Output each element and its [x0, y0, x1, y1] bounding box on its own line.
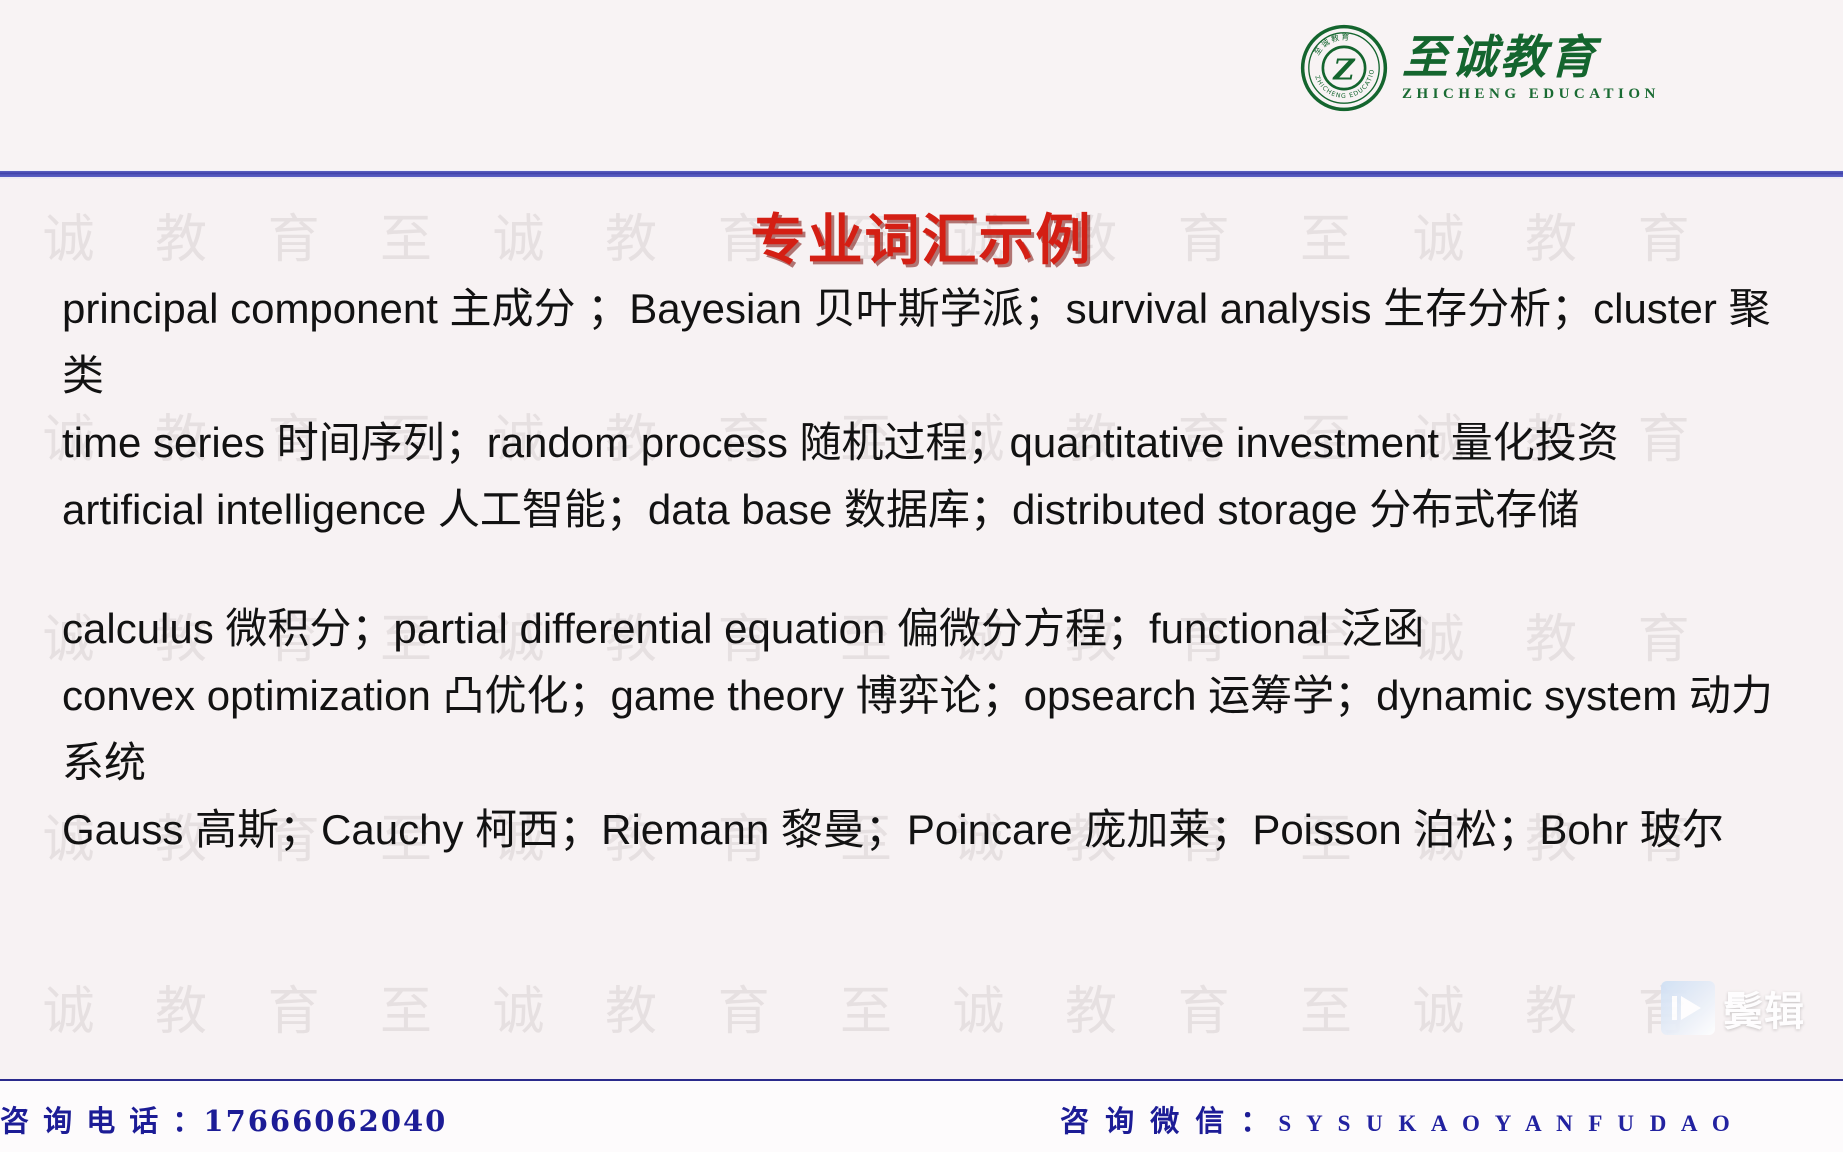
player-watermark: 鬓辑	[1661, 979, 1805, 1037]
watermark: 至 诚 教 育	[840, 969, 1252, 1044]
footer-bar: 咨 询 电 话 ：17666062040 咨 询 微 信 ： S Y S U K…	[0, 1079, 1843, 1152]
zhicheng-circular-seal-icon: 至诚教育 ZHICHENG EDUCATION Z	[1300, 24, 1388, 112]
brand-name-en: ZHICHENG EDUCATION	[1402, 86, 1660, 103]
watermark: 至 诚 教 育	[0, 969, 342, 1044]
contact-wechat: 咨 询 微 信 ： S Y S U K A O Y A N F U D A O	[1060, 1098, 1735, 1140]
player-brand-text: 鬓辑	[1723, 979, 1805, 1037]
contact-phone-label: 咨 询 电 话 ：	[0, 1104, 203, 1138]
watermark: 至 诚 教 育	[1300, 969, 1712, 1044]
watermark: 至 诚 教 育	[380, 969, 792, 1044]
slide-body: 至 诚 教 育 至 诚 教 育 至 诚 教 育 至 诚 教 育 至 诚 教 育 …	[0, 179, 1843, 1079]
contact-phone-number: 17666062040	[203, 1104, 447, 1138]
vocab-line: 类	[62, 342, 1843, 409]
vocab-line: principal component 主成分 ；Bayesian 贝叶斯学派；…	[62, 275, 1843, 342]
brand-name-cn: 至诚教育	[1402, 33, 1660, 81]
contact-phone: 咨 询 电 话 ：17666062040	[0, 1098, 447, 1140]
vocab-line: Gauss 高斯；Cauchy 柯西；Riemann 黎曼；Poincare 庞…	[62, 796, 1843, 863]
vocab-line: convex optimization 凸优化；game theory 博弈论；…	[62, 662, 1843, 729]
slide-title: 专业词汇示例	[0, 195, 1843, 275]
slide-content: principal component 主成分 ；Bayesian 贝叶斯学派；…	[62, 275, 1843, 863]
vocab-line: 系统	[62, 729, 1843, 796]
contact-wechat-id: S Y S U K A O Y A N F U D A O	[1278, 1111, 1734, 1137]
svg-text:Z: Z	[1332, 52, 1356, 86]
paragraph-spacer	[62, 543, 1843, 595]
header-band: 至诚教育 ZHICHENG EDUCATION Z 至诚教育 ZHICHENG …	[0, 0, 1843, 172]
contact-wechat-label: 咨 询 微 信 ：	[1060, 1098, 1272, 1140]
vocab-line: time series 时间序列；random process 随机过程；qua…	[62, 409, 1843, 476]
slide-screenshot: 至诚教育 ZHICHENG EDUCATION Z 至诚教育 ZHICHENG …	[0, 0, 1843, 1152]
brand-logo-text: 至诚教育 ZHICHENG EDUCATION	[1402, 24, 1660, 112]
brand-logo: 至诚教育 ZHICHENG EDUCATION Z 至诚教育 ZHICHENG …	[1300, 22, 1660, 114]
vocab-line: calculus 微积分；partial differential equati…	[62, 595, 1843, 662]
header-divider	[0, 170, 1843, 179]
play-button-icon	[1661, 981, 1715, 1035]
vocab-line: artificial intelligence 人工智能；data base 数…	[62, 476, 1843, 543]
